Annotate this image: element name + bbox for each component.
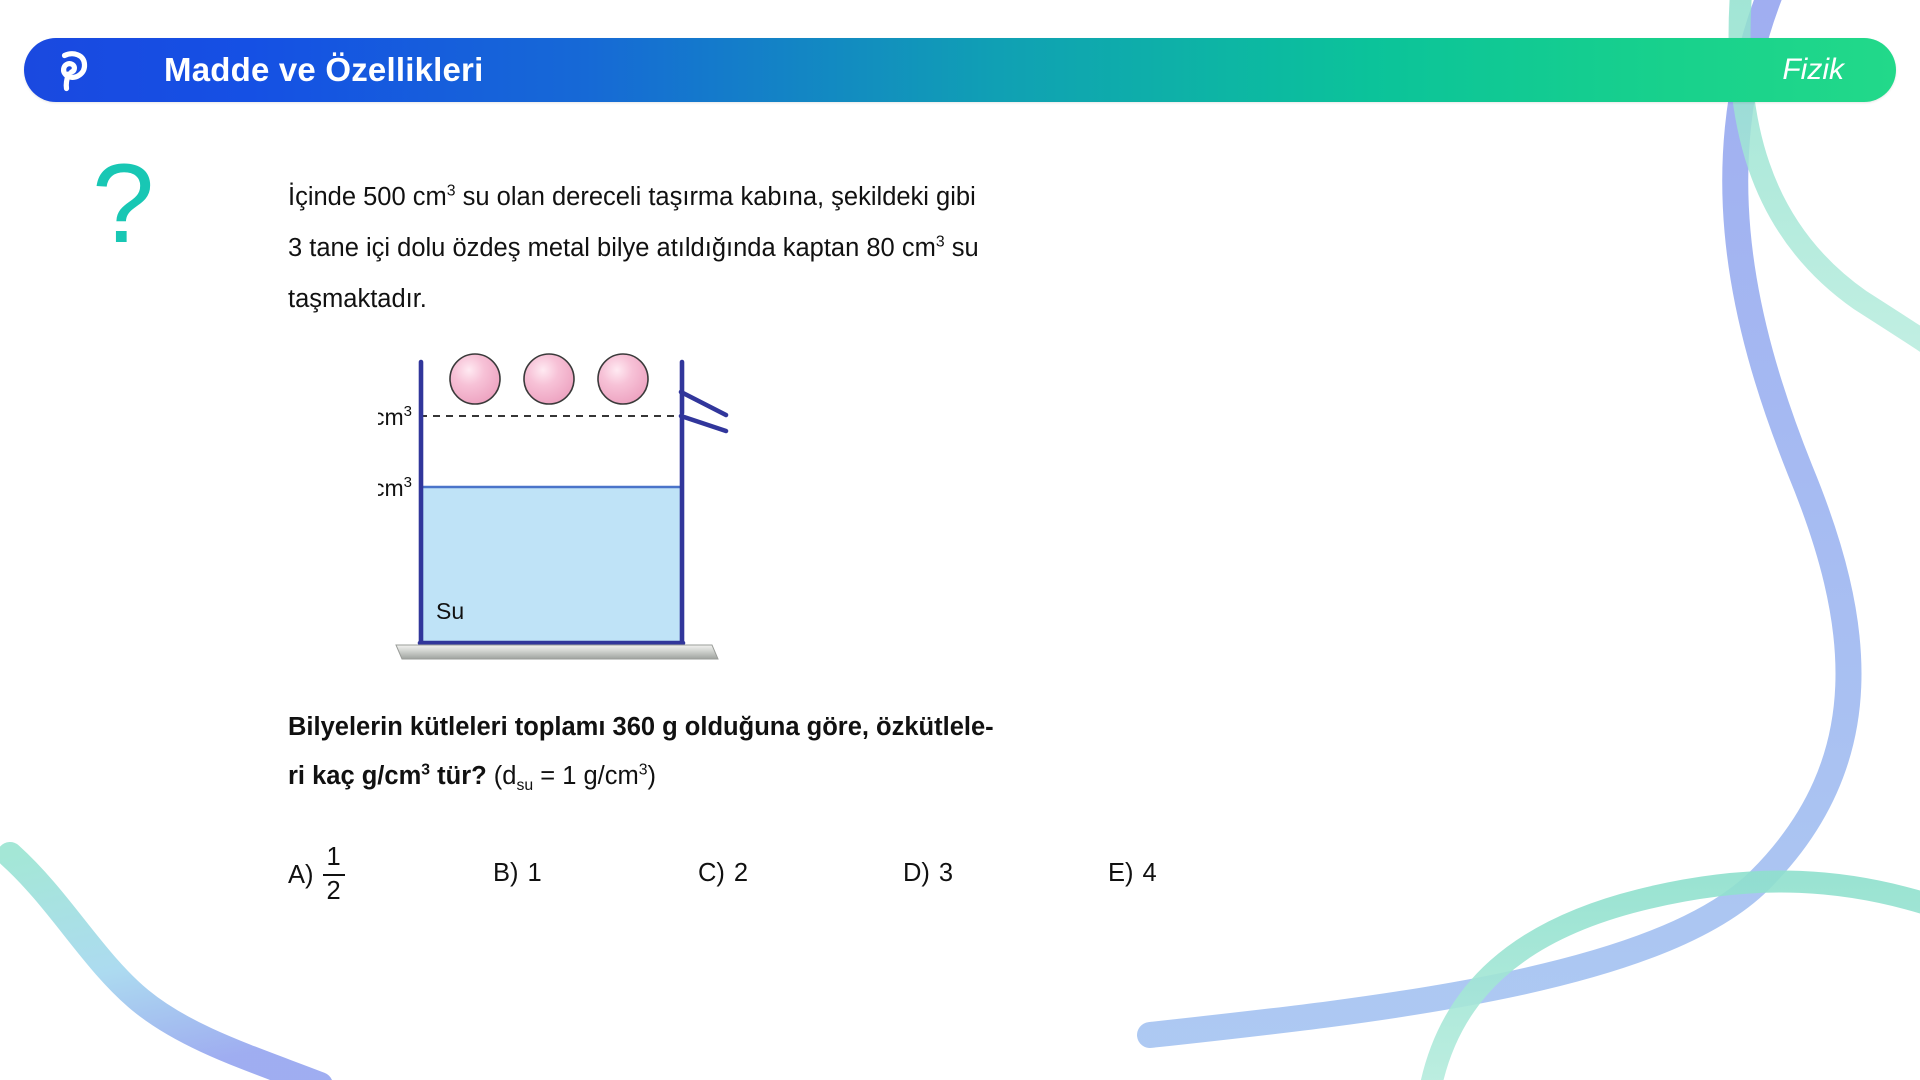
option-d-value: 3 (939, 859, 953, 888)
ask-paren-close: ) (648, 762, 657, 790)
marble (524, 354, 574, 404)
question-stem: İçinde 500 cm3 su olan dereceli taşırma … (288, 172, 1208, 325)
stem-line-2-post: su (945, 234, 979, 262)
stem-line-3: taşmaktadır. (288, 274, 1208, 325)
decor-curve-teal-bottomright (1430, 881, 1920, 1080)
question-ask: Bilyelerin kütleleri toplamı 360 g olduğ… (288, 703, 1208, 801)
stem-line-1-sup: 3 (447, 183, 456, 200)
option-d-label: D) (903, 859, 930, 888)
ask-line-2-sup: 3 (421, 762, 430, 779)
ask-line-2: ri kaç g/cm3 tür? (dsu = 1 g/cm3) (288, 752, 1208, 801)
stem-line-2: 3 tane içi dolu özdeş metal bilye atıldı… (288, 223, 1208, 274)
option-a-denominator: 2 (323, 878, 345, 906)
stem-line-1-post: su olan dereceli taşırma kabına, şekilde… (456, 183, 976, 211)
ask-sub-su: su (516, 777, 533, 794)
decor-curve-blue-right (1150, 0, 1849, 1035)
option-a-label: A) (288, 861, 314, 890)
water-label: Su (436, 598, 464, 624)
overflow-vessel-figure: 600 cm3 500 cm3 Su (378, 353, 898, 673)
option-c-label: C) (698, 859, 725, 888)
question-content: İçinde 500 cm3 su olan dereceli taşırma … (288, 172, 1208, 925)
option-a-numerator: 1 (323, 844, 345, 872)
stem-line-1: İçinde 500 cm3 su olan dereceli taşırma … (288, 172, 1208, 223)
option-d[interactable]: D) 3 (903, 859, 953, 888)
marble-group (450, 354, 648, 404)
marble (598, 354, 648, 404)
vessel-diagram: 600 cm3 500 cm3 Su (378, 353, 898, 673)
stem-line-1-pre: İçinde 500 cm (288, 183, 447, 211)
ask-line-2-post: tür? (430, 762, 487, 790)
option-c[interactable]: C) 2 (698, 859, 748, 888)
answer-options: A) 1 2 B) 1 C) 2 D) 3 E) 4 (288, 845, 1208, 925)
ask-paren-open: (d (487, 762, 517, 790)
option-a-fraction: 1 2 (323, 844, 345, 905)
stem-line-3-pre: taşmaktadır. (288, 285, 427, 313)
ask-mid: = 1 g/cm (533, 762, 639, 790)
p-logo-icon (46, 46, 94, 94)
level-600-label: 600 cm3 (378, 403, 412, 430)
option-e-label: E) (1108, 859, 1134, 888)
spout-lower-edge (681, 416, 726, 431)
option-c-value: 2 (734, 859, 748, 888)
marble (450, 354, 500, 404)
option-b-value: 1 (528, 859, 542, 888)
fraction-bar (323, 874, 345, 876)
decor-curve-bottomleft (10, 855, 320, 1080)
stem-line-2-sup: 3 (936, 234, 945, 251)
question-mark-icon: ? (92, 148, 154, 260)
ask-line-1-text: Bilyelerin kütleleri toplamı 360 g olduğ… (288, 713, 994, 741)
option-e[interactable]: E) 4 (1108, 859, 1157, 888)
option-b-label: B) (493, 859, 519, 888)
ask-line-2-pre: ri kaç g/cm (288, 762, 421, 790)
option-a[interactable]: A) 1 2 (288, 845, 345, 906)
vessel-base (396, 645, 718, 659)
slide-page: Madde ve Özellikleri Fizik ? İçinde 500 … (0, 0, 1920, 1080)
header-bar: Madde ve Özellikleri Fizik (24, 38, 1896, 102)
subject-badge: Fizik (1782, 38, 1844, 102)
ask-sup-3: 3 (639, 762, 648, 779)
page-title: Madde ve Özellikleri (164, 38, 483, 102)
ask-line-1: Bilyelerin kütleleri toplamı 360 g olduğ… (288, 703, 1208, 752)
stem-line-2-pre: 3 tane içi dolu özdeş metal bilye atıldı… (288, 234, 936, 262)
option-b[interactable]: B) 1 (493, 859, 542, 888)
spout-upper-edge (681, 392, 726, 415)
level-500-label: 500 cm3 (378, 474, 412, 501)
option-e-value: 4 (1143, 859, 1157, 888)
